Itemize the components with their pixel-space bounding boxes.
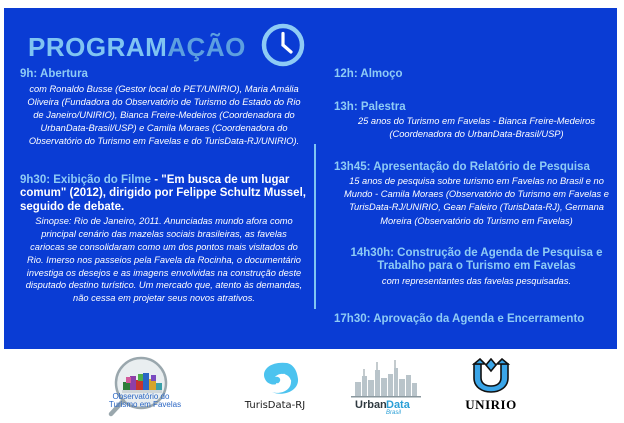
spacer <box>334 297 619 313</box>
schedule-column-left: 9h: Abertura com Ronaldo Busse (Gestor l… <box>20 68 308 314</box>
poster-root: PROGRAMAÇÃO 9h: Abertura com Ronaldo Bus… <box>0 0 624 422</box>
schedule-item-time: 9h30: Exibição do Filme - "Em busca de u… <box>20 174 308 215</box>
schedule-item: 13h: Palestra 25 anos do Turismo em Fave… <box>334 101 619 142</box>
page-title: PROGRAMAÇÃO <box>28 32 246 63</box>
schedule-item-time: 13h: Palestra <box>334 101 619 115</box>
urbandata-brasil-logo: Urban Data Brasil <box>345 358 427 416</box>
schedule-item-time: 17h30: Aprovação da Agenda e Encerrament… <box>334 313 619 327</box>
observatorio-turismo-favelas-logo: Observatório do Turismo em Favelas <box>93 356 205 418</box>
schedule-item-time: 12h: Almoço <box>334 68 619 82</box>
schedule-item: 14h30h: Construção de Agenda de Pesquisa… <box>334 247 619 288</box>
page-title-part-a: PROGRAM <box>28 32 167 62</box>
schedule-item-description: com Ronaldo Busse (Gestor local do PET/U… <box>20 83 308 149</box>
svg-text:Brasil: Brasil <box>386 410 402 414</box>
schedule-item-time: 9h: Abertura <box>20 68 308 82</box>
schedule-item: 12h: Almoço <box>334 68 619 82</box>
svg-text:Urban: Urban <box>355 399 387 411</box>
unirio-logo-caption: UNIRIO <box>451 397 531 413</box>
schedule-column-right: 12h: Almoço 13h: Palestra 25 anos do Tur… <box>334 68 619 336</box>
schedule-item: 9h: Abertura com Ronaldo Busse (Gestor l… <box>20 68 308 149</box>
schedule-item-time: 13h45: Apresentação do Relatório de Pesq… <box>334 161 619 175</box>
column-divider <box>314 144 316 309</box>
blue-panel: PROGRAMAÇÃO 9h: Abertura com Ronaldo Bus… <box>4 8 617 349</box>
clock-icon <box>260 22 306 73</box>
spacer <box>334 237 619 247</box>
svg-text:Turismo em Favelas: Turismo em Favelas <box>109 400 181 409</box>
spacer <box>20 158 308 174</box>
page-title-part-b: AÇÃO <box>167 32 246 62</box>
schedule-item-description: com representantes das favelas pesquisad… <box>334 275 619 288</box>
spacer <box>334 151 619 161</box>
schedule-item: 17h30: Aprovação da Agenda e Encerrament… <box>334 313 619 327</box>
unirio-logo: UNIRIO <box>451 358 531 416</box>
schedule-item: 9h30: Exibição do Filme - "Em busca de u… <box>20 174 308 305</box>
turisdata-rj-logo: TurisData-RJ <box>229 357 321 417</box>
schedule-item-description: 25 anos do Turismo em Favelas - Bianca F… <box>334 115 619 141</box>
turisdata-rj-logo-caption: TurisData-RJ <box>229 400 321 411</box>
schedule-item-time-label: 9h30: Exibição do Filme <box>20 174 151 186</box>
schedule-item: 13h45: Apresentação do Relatório de Pesq… <box>334 161 619 228</box>
schedule-item-time: 14h30h: Construção de Agenda de Pesquisa… <box>334 247 619 274</box>
schedule-item-description: Sinopse: Rio de Janeiro, 2011. Anunciada… <box>20 215 308 305</box>
schedule-item-description: 15 anos de pesquisa sobre turismo em Fav… <box>334 175 619 228</box>
spacer <box>334 91 619 101</box>
poster-header: PROGRAMAÇÃO <box>28 22 306 72</box>
footer-logo-strip: Observatório do Turismo em Favelas Turis… <box>0 352 624 422</box>
